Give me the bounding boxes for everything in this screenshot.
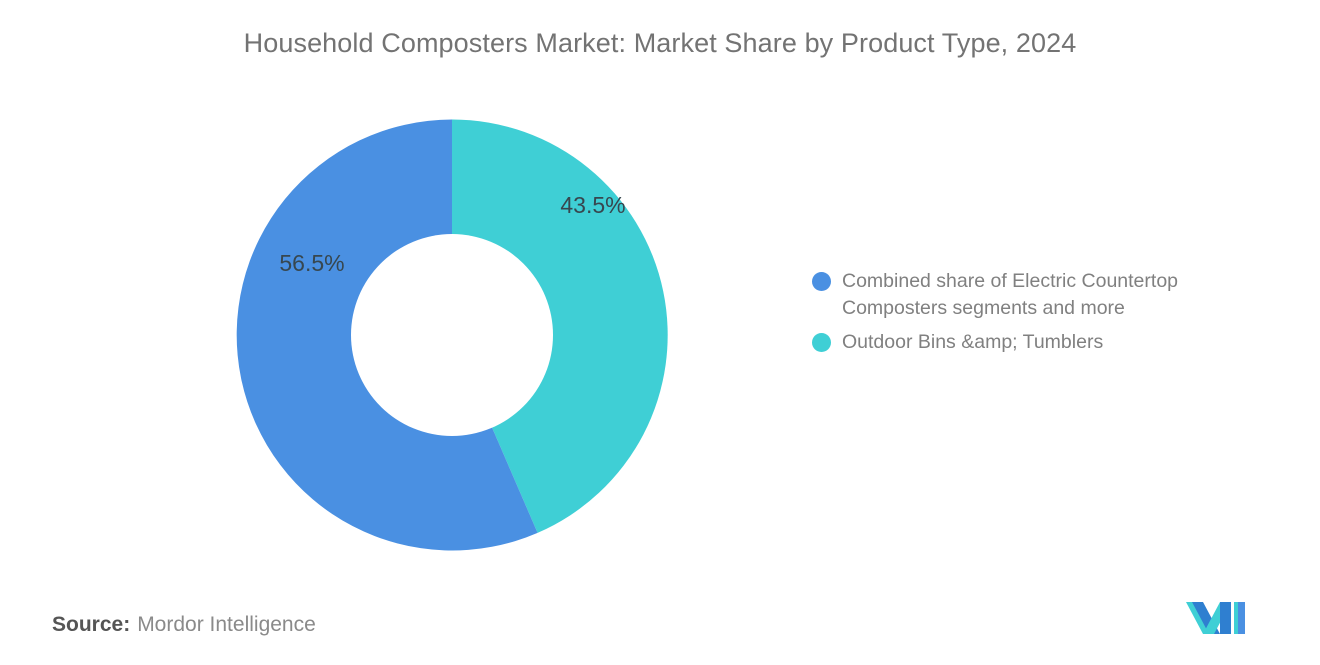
legend-label-outdoor-bins-tumblers: Outdoor Bins &amp; Tumblers (842, 329, 1103, 356)
legend-item-outdoor-bins-tumblers[interactable]: Outdoor Bins &amp; Tumblers (812, 329, 1282, 356)
page-title: Household Composters Market: Market Shar… (0, 28, 1320, 59)
donut-chart-svg: 56.5% 43.5% (236, 119, 668, 551)
legend-swatch-icon-teal (812, 333, 831, 352)
source-attribution: Source:Mordor Intelligence (52, 613, 316, 637)
mordor-intelligence-logo-icon (1184, 598, 1252, 638)
donut-label-outdoor-bins-tumblers: 43.5% (560, 192, 625, 218)
logo-svg (1184, 598, 1252, 638)
donut-center-hole (351, 234, 553, 436)
source-value: Mordor Intelligence (137, 613, 316, 636)
donut-chart: 56.5% 43.5% (236, 119, 668, 551)
legend-swatch-icon-blue (812, 272, 831, 291)
chart-legend: Combined share of Electric Countertop Co… (812, 268, 1282, 363)
donut-label-electric-countertop-composters: 56.5% (279, 250, 344, 276)
source-label: Source: (52, 613, 130, 636)
legend-label-electric-countertop-composters: Combined share of Electric Countertop Co… (842, 268, 1262, 322)
legend-item-electric-countertop-composters[interactable]: Combined share of Electric Countertop Co… (812, 268, 1282, 322)
